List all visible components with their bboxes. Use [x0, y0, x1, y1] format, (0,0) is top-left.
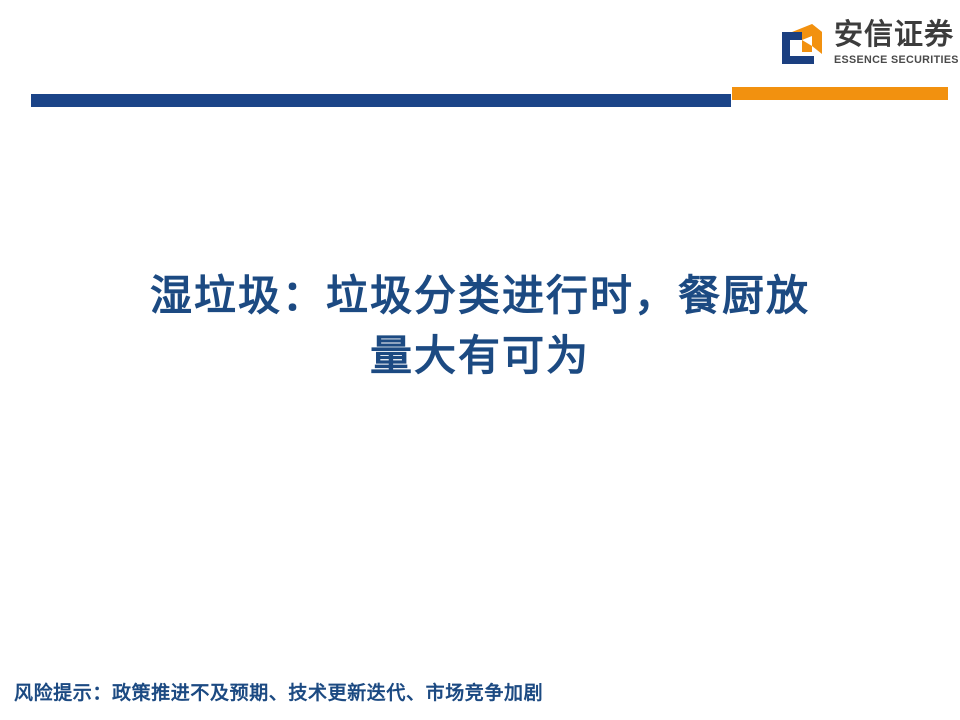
page-title: 湿垃圾：垃圾分类进行时，餐厨放 量大有可为 [120, 268, 840, 387]
header-divider-blue [31, 94, 731, 107]
header-divider-orange [732, 87, 948, 100]
report-cover-slide: 安信证券 ESSENCE SECURITIES 湿垃圾：垃圾分类进行时，餐厨放 … [0, 0, 960, 720]
company-name-cn: 安信证券 [834, 21, 954, 50]
essence-securities-logo-mark [778, 22, 824, 68]
page-title-line-2: 量大有可为 [120, 328, 840, 388]
company-name-en: ESSENCE SECURITIES [834, 55, 959, 66]
brand-wordmark: 安信证券 ESSENCE SECURITIES [834, 21, 960, 66]
brand-logo: 安信证券 ESSENCE SECURITIES [778, 20, 953, 82]
risk-disclosure-note: 风险提示：政策推进不及预期、技术更新迭代、市场竞争加剧 [14, 682, 543, 707]
page-title-line-1: 湿垃圾：垃圾分类进行时，餐厨放 [120, 268, 840, 328]
